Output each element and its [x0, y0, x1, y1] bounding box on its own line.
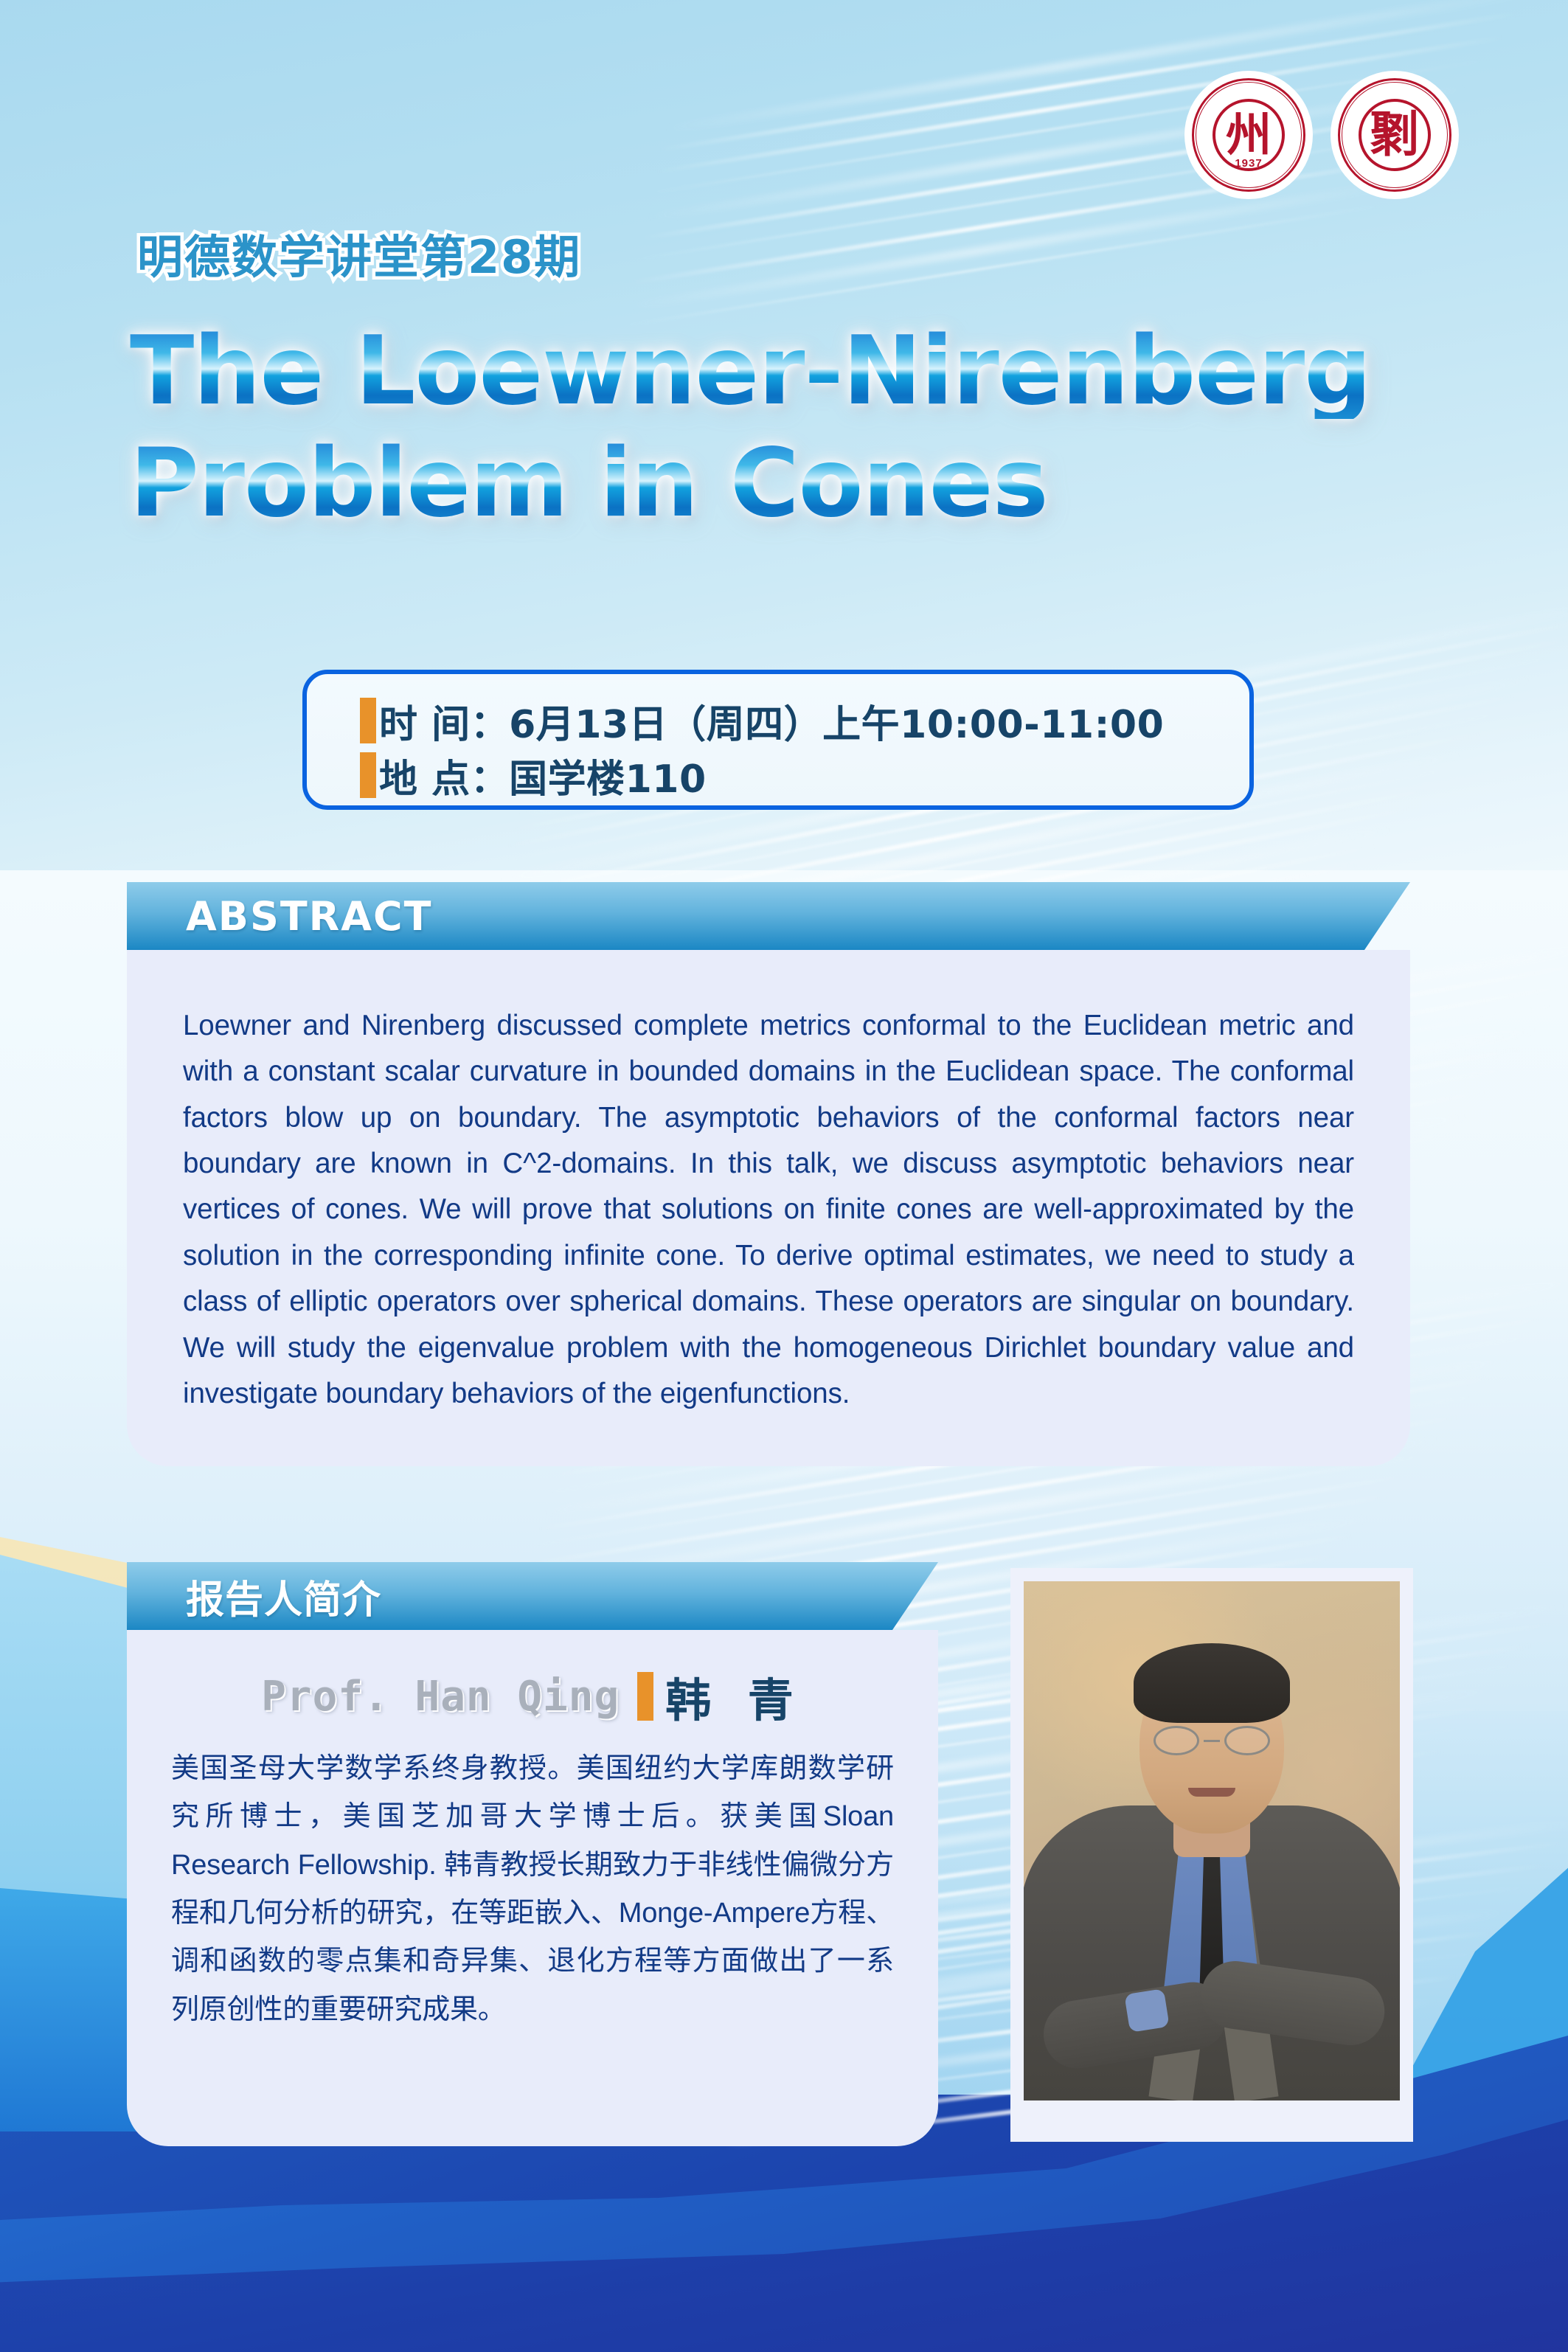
school-of-mathematics-seal-icon: 㔌: [1331, 71, 1459, 199]
speaker-bio-text: 美国圣母大学数学系终身教授。美国纽约大学库朗数学研究所博士，美国芝加哥大学博士后…: [171, 1745, 894, 2034]
seal-glyph: 㔌: [1370, 111, 1419, 159]
abstract-body-text: Loewner and Nirenberg discussed complete…: [183, 1003, 1354, 1417]
poster-root: 州 1937 㔌 明德数学讲堂第28期 The Loewner-Nirenber…: [0, 0, 1568, 2352]
orange-bar-icon: [360, 752, 376, 798]
title-line-1: The Loewner-Nirenberg: [130, 325, 1465, 419]
logo-group: 州 1937 㔌: [1184, 71, 1459, 199]
orange-bar-icon: [360, 698, 376, 743]
orange-bar-icon: [637, 1672, 653, 1721]
speaker-banner-label: 报告人简介: [186, 1569, 381, 1624]
event-time-text: 时 间：6月13日（周四）上午10:00-11:00: [379, 693, 1164, 749]
speaker-name-english: Prof. Han Qing: [261, 1673, 620, 1721]
abstract-section-banner: ABSTRACT: [127, 882, 1410, 950]
series-label: 明德数学讲堂第28期: [137, 220, 581, 286]
speaker-name-row: Prof. Han Qing 韩 青: [171, 1658, 894, 1735]
event-place-text: 地 点：国学楼110: [379, 748, 707, 803]
speaker-portrait-image: [1024, 1581, 1400, 2101]
event-details-box: 时 间：6月13日（周四）上午10:00-11:00 地 点：国学楼110: [302, 670, 1254, 810]
abstract-banner-label: ABSTRACT: [186, 893, 433, 940]
renmin-university-of-china-seal-icon: 州 1937: [1184, 71, 1313, 199]
event-place-row: 地 点：国学楼110: [360, 748, 1249, 802]
title-line-2: Problem in Cones: [130, 437, 1465, 531]
seal-glyph: 州: [1226, 112, 1272, 158]
abstract-card: Loewner and Nirenberg discussed complete…: [127, 950, 1410, 1466]
speaker-section-banner: 报告人简介: [127, 1562, 938, 1630]
speaker-name-chinese: 韩 青: [665, 1663, 804, 1730]
speaker-photo-frame: [1010, 1568, 1413, 2142]
event-time-row: 时 间：6月13日（周四）上午10:00-11:00: [360, 693, 1249, 748]
page-title: The Loewner-Nirenberg Problem in Cones: [130, 325, 1465, 531]
speaker-card: Prof. Han Qing 韩 青 美国圣母大学数学系终身教授。美国纽约大学库…: [127, 1630, 938, 2146]
